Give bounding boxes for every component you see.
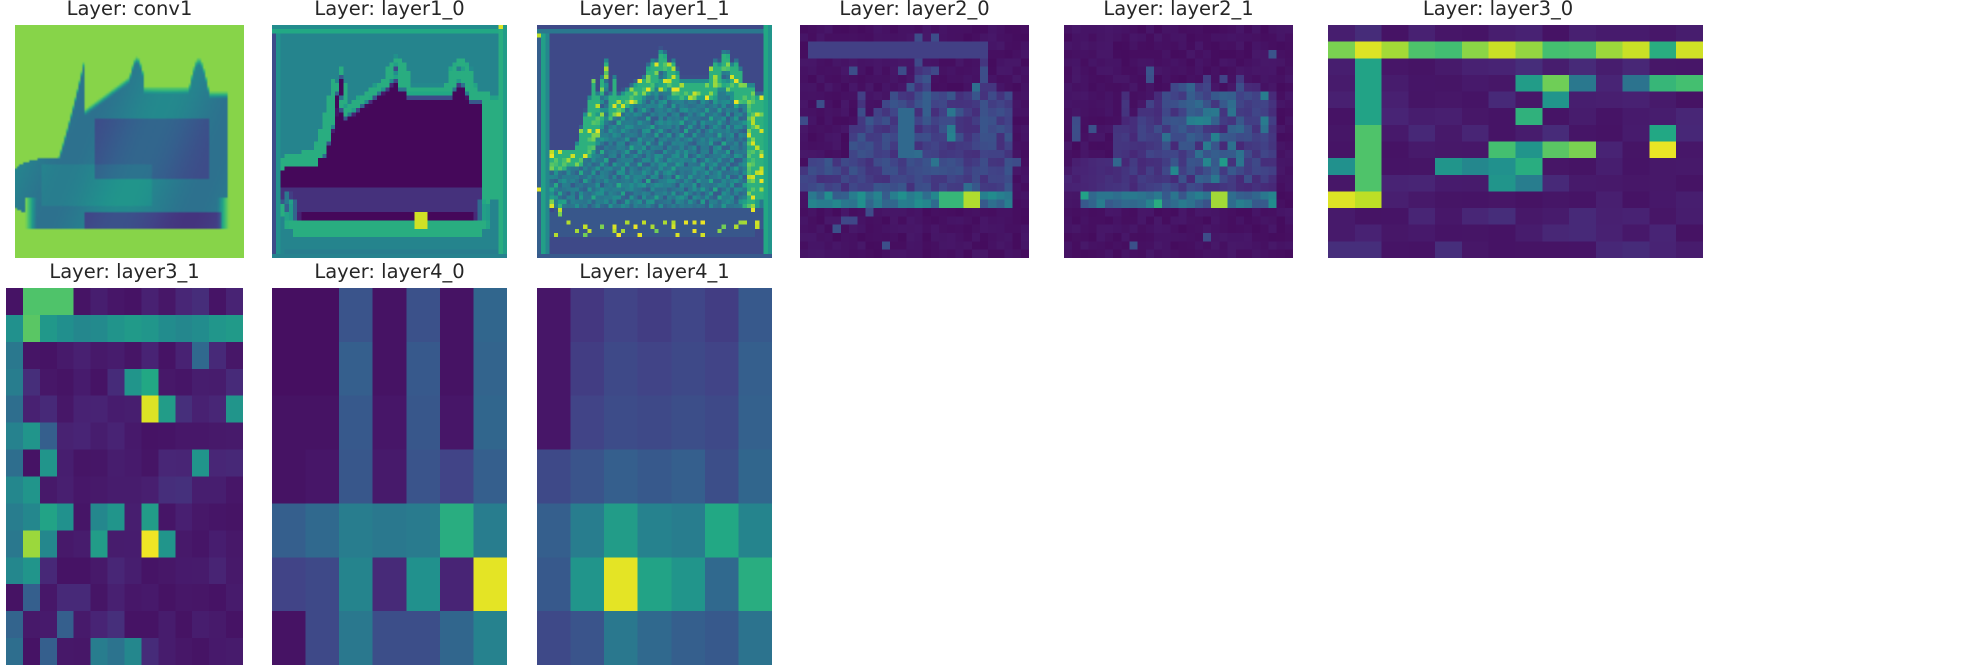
panel-layer1_1: Layer: layer1_1 (537, 0, 772, 258)
panel-layer4_0: Layer: layer4_0 (272, 260, 507, 665)
panel-layer2_1: Layer: layer2_1 (1064, 0, 1293, 258)
feature-map-canvas-layer2_0 (800, 25, 1029, 258)
heatmap-layer4_0 (272, 288, 507, 665)
panel-title-layer1_0: Layer: layer1_0 (272, 0, 507, 21)
panel-title-conv1: Layer: conv1 (15, 0, 244, 21)
heatmap-layer3_1 (6, 288, 243, 665)
heatmap-layer1_0 (272, 25, 507, 258)
panel-title-layer4_1: Layer: layer4_1 (537, 260, 772, 284)
panel-layer4_1: Layer: layer4_1 (537, 260, 772, 665)
feature-map-canvas-conv1 (15, 25, 244, 258)
panel-conv1: Layer: conv1 (15, 0, 244, 258)
feature-map-figure: Layer: conv1Layer: layer1_0Layer: layer1… (0, 0, 1969, 665)
panel-title-layer2_0: Layer: layer2_0 (800, 0, 1029, 21)
panel-title-layer4_0: Layer: layer4_0 (272, 260, 507, 284)
feature-map-canvas-layer4_0 (272, 288, 507, 665)
panel-layer3_1: Layer: layer3_1 (6, 260, 243, 665)
heatmap-layer2_1 (1064, 25, 1293, 258)
heatmap-layer3_0 (1328, 25, 1703, 258)
panel-title-layer1_1: Layer: layer1_1 (537, 0, 772, 21)
panel-title-layer2_1: Layer: layer2_1 (1064, 0, 1293, 21)
panel-layer3_0: Layer: layer3_0 (1328, 0, 1703, 258)
feature-map-canvas-layer4_1 (537, 288, 772, 665)
feature-map-canvas-layer1_1 (537, 25, 772, 258)
feature-map-canvas-layer3_0 (1328, 25, 1703, 258)
panel-title-layer3_0: Layer: layer3_0 (1328, 0, 1668, 21)
panel-title-layer3_1: Layer: layer3_1 (6, 260, 243, 284)
panel-layer1_0: Layer: layer1_0 (272, 0, 507, 258)
heatmap-layer4_1 (537, 288, 772, 665)
feature-map-canvas-layer3_1 (6, 288, 243, 665)
heatmap-layer1_1 (537, 25, 772, 258)
panel-layer2_0: Layer: layer2_0 (800, 0, 1029, 258)
heatmap-conv1 (15, 25, 244, 258)
heatmap-layer2_0 (800, 25, 1029, 258)
feature-map-canvas-layer1_0 (272, 25, 507, 258)
feature-map-canvas-layer2_1 (1064, 25, 1293, 258)
